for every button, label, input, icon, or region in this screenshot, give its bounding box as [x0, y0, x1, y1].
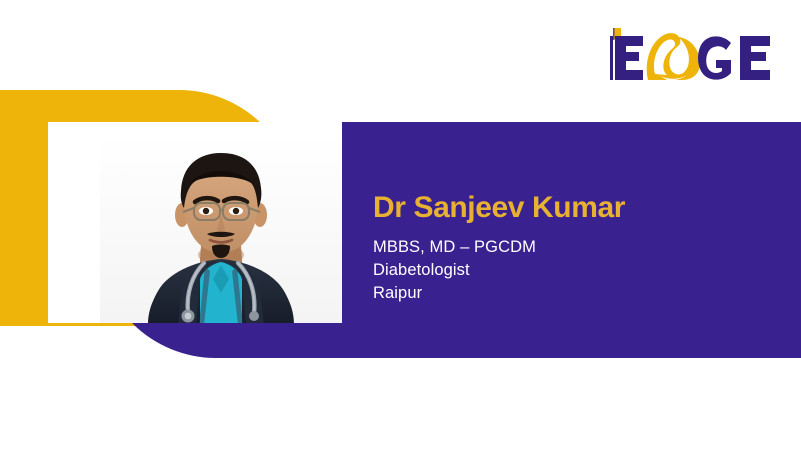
- slide-canvas: Dr Sanjeev Kumar MBBS, MD – PGCDM Diabet…: [0, 0, 801, 450]
- doctor-name: Dr Sanjeev Kumar: [373, 192, 773, 224]
- doctor-photo-card: [48, 122, 342, 323]
- doctor-city: Raipur: [373, 282, 773, 305]
- doctor-photo: [100, 133, 342, 323]
- logo-letter-e-1: [610, 36, 643, 80]
- edge-logo[interactable]: [604, 22, 776, 82]
- logo-letter-e-2: [740, 36, 770, 80]
- doctor-portrait-svg: [100, 133, 342, 323]
- profile-banner: Dr Sanjeev Kumar MBBS, MD – PGCDM Diabet…: [0, 88, 801, 363]
- doctor-credentials: MBBS, MD – PGCDM: [373, 236, 773, 259]
- doctor-details: MBBS, MD – PGCDM Diabetologist Raipur: [373, 236, 773, 306]
- stomach-icon: [647, 33, 700, 80]
- doctor-specialty: Diabetologist: [373, 259, 773, 282]
- logo-letter-g: [698, 36, 731, 79]
- edge-logo-svg: [604, 22, 776, 82]
- doctor-info: Dr Sanjeev Kumar MBBS, MD – PGCDM Diabet…: [373, 192, 773, 306]
